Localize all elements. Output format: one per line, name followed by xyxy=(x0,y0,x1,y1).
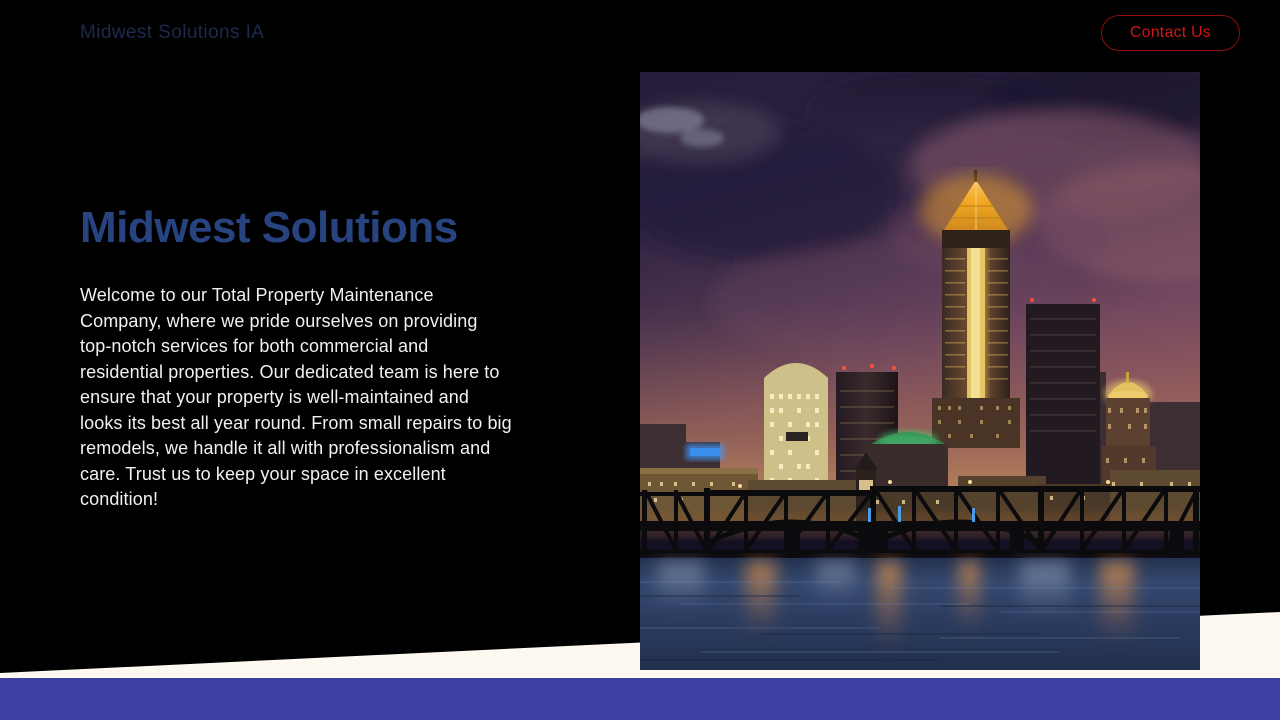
hero-copy-column: Midwest Solutions Welcome to our Total P… xyxy=(80,205,550,513)
footer-band xyxy=(0,678,1280,720)
contact-us-button[interactable]: Contact Us xyxy=(1101,15,1240,51)
skyline-photo-illustration xyxy=(640,72,1200,670)
hero-image xyxy=(640,72,1200,670)
hero-paragraph: Welcome to our Total Property Maintenanc… xyxy=(80,283,512,513)
brand-logo-text[interactable]: Midwest Solutions IA xyxy=(80,22,264,44)
page-title: Midwest Solutions xyxy=(80,205,550,251)
page-root: Midwest Solutions IA Contact Us Midwest … xyxy=(0,0,1280,720)
site-header: Midwest Solutions IA Contact Us xyxy=(0,0,1280,66)
